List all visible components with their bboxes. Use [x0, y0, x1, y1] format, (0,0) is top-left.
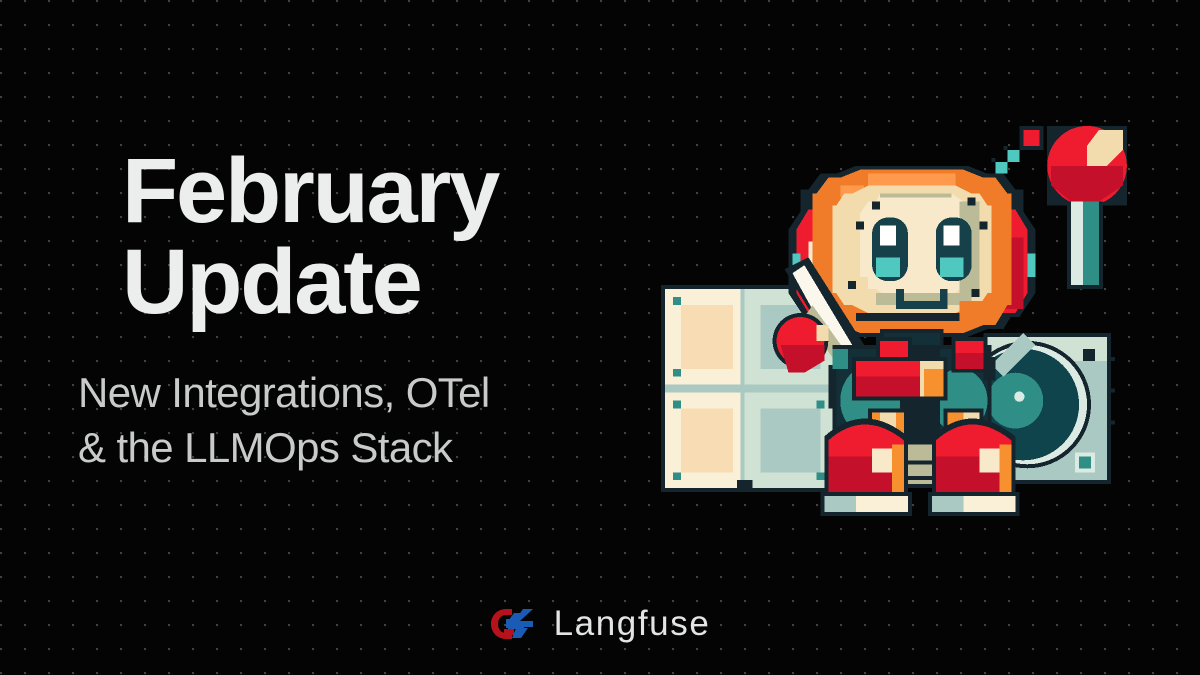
langfuse-logo-icon — [490, 607, 536, 641]
brand-name: Langfuse — [554, 604, 711, 644]
pixel-robot-artwork: .o { fill:#14252e; } .or { fill:#f07c2a;… — [648, 118, 1136, 524]
page-subtitle: New Integrations, OTel & the LLMOps Stac… — [78, 366, 682, 475]
robot-lollipop — [1047, 126, 1127, 289]
poster-canvas: February Update New Integrations, OTel &… — [0, 0, 1200, 675]
page-title: February Update — [122, 146, 682, 328]
brand-footer: Langfuse — [0, 604, 1200, 644]
headline-block: February Update New Integrations, OTel &… — [122, 146, 682, 475]
